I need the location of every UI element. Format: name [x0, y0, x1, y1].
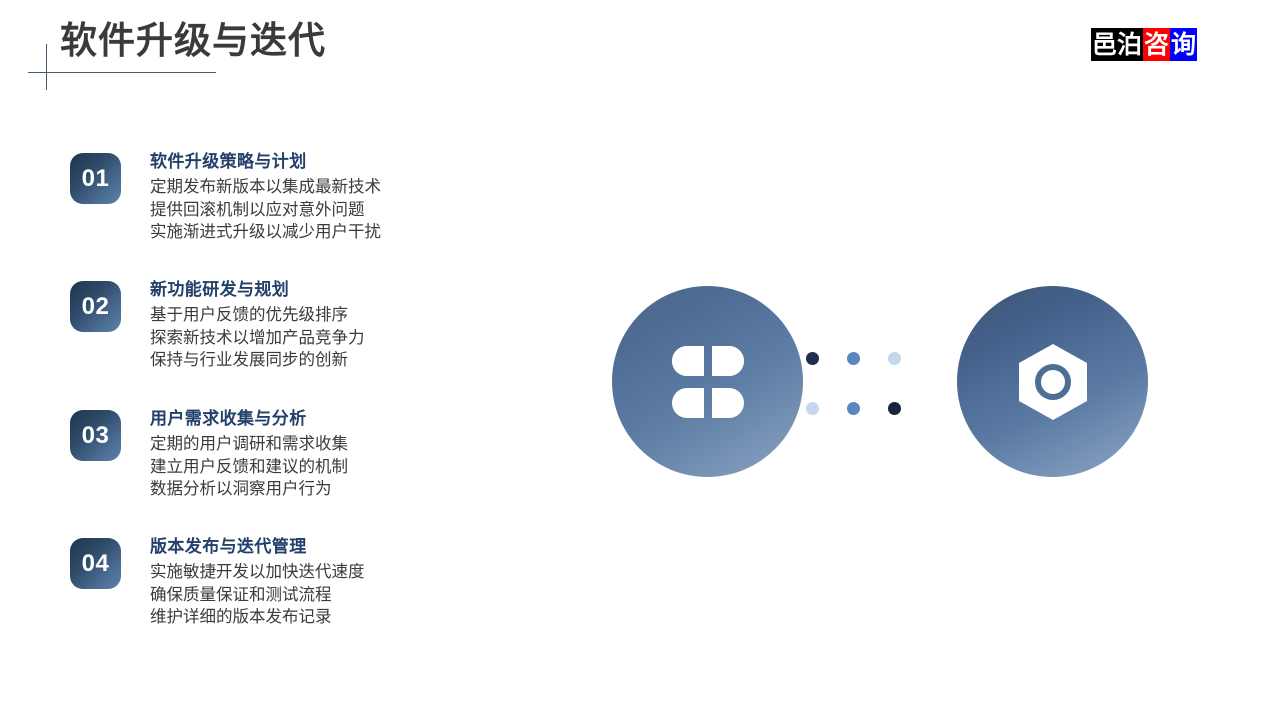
connector-dot — [888, 402, 901, 415]
item-line: 基于用户反馈的优先级排序 — [150, 304, 480, 327]
item-line: 提供回滚机制以应对意外问题 — [150, 199, 480, 222]
item-line: 定期的用户调研和需求收集 — [150, 433, 480, 456]
decorative-graphic — [580, 230, 1200, 530]
item-lines: 基于用户反馈的优先级排序 探索新技术以增加产品竞争力 保持与行业发展同步的创新 — [150, 304, 480, 372]
item-heading: 版本发布与迭代管理 — [150, 533, 480, 560]
item-line: 确保质量保证和测试流程 — [150, 584, 480, 607]
item-line: 实施敏捷开发以加快迭代速度 — [150, 561, 480, 584]
item-number-label: 03 — [82, 410, 110, 461]
item-line: 维护详细的版本发布记录 — [150, 606, 480, 629]
four-petal-clover-icon — [666, 340, 750, 424]
item-lines: 实施敏捷开发以加快迭代速度 确保质量保证和测试流程 维护详细的版本发布记录 — [150, 561, 480, 629]
item-text-block: 用户需求收集与分析 定期的用户调研和需求收集 建立用户反馈和建议的机制 数据分析… — [150, 405, 480, 501]
connector-dot — [847, 402, 860, 415]
item-line: 探索新技术以增加产品竞争力 — [150, 327, 480, 350]
left-circle — [612, 286, 803, 477]
logo-segment-black: 邑泊 — [1091, 28, 1143, 61]
brand-logo: 邑泊 咨 询 — [1091, 28, 1197, 61]
item-heading: 用户需求收集与分析 — [150, 405, 480, 432]
item-number-badge: 02 — [70, 281, 121, 332]
right-circle — [957, 286, 1148, 477]
item-text-block: 软件升级策略与计划 定期发布新版本以集成最新技术 提供回滚机制以应对意外问题 实… — [150, 148, 480, 244]
item-number-label: 04 — [82, 538, 110, 589]
slide-root: 软件升级与迭代 邑泊 咨 询 01 软件升级策略与计划 定期发布新版本以集成最新… — [0, 0, 1280, 720]
item-number-badge: 03 — [70, 410, 121, 461]
logo-segment-blue: 询 — [1170, 28, 1197, 61]
hex-nut-icon — [1015, 342, 1091, 422]
item-number-badge: 01 — [70, 153, 121, 204]
item-line: 保持与行业发展同步的创新 — [150, 349, 480, 372]
item-line: 数据分析以洞察用户行为 — [150, 478, 480, 501]
item-text-block: 版本发布与迭代管理 实施敏捷开发以加快迭代速度 确保质量保证和测试流程 维护详细… — [150, 533, 480, 629]
item-number-label: 01 — [82, 153, 110, 204]
item-number-label: 02 — [82, 281, 110, 332]
item-line: 建立用户反馈和建议的机制 — [150, 456, 480, 479]
connector-dot — [806, 352, 819, 365]
item-line: 定期发布新版本以集成最新技术 — [150, 176, 480, 199]
connector-dot — [888, 352, 901, 365]
item-line: 实施渐进式升级以减少用户干扰 — [150, 221, 480, 244]
item-lines: 定期的用户调研和需求收集 建立用户反馈和建议的机制 数据分析以洞察用户行为 — [150, 433, 480, 501]
item-heading: 软件升级策略与计划 — [150, 148, 480, 175]
connector-dots — [806, 352, 902, 416]
numbered-list: 01 软件升级策略与计划 定期发布新版本以集成最新技术 提供回滚机制以应对意外问… — [0, 0, 500, 720]
item-text-block: 新功能研发与规划 基于用户反馈的优先级排序 探索新技术以增加产品竞争力 保持与行… — [150, 276, 480, 372]
item-number-badge: 04 — [70, 538, 121, 589]
connector-dot — [806, 402, 819, 415]
item-lines: 定期发布新版本以集成最新技术 提供回滚机制以应对意外问题 实施渐进式升级以减少用… — [150, 176, 480, 244]
item-heading: 新功能研发与规划 — [150, 276, 480, 303]
connector-dot — [847, 352, 860, 365]
logo-segment-red: 咨 — [1143, 28, 1170, 61]
